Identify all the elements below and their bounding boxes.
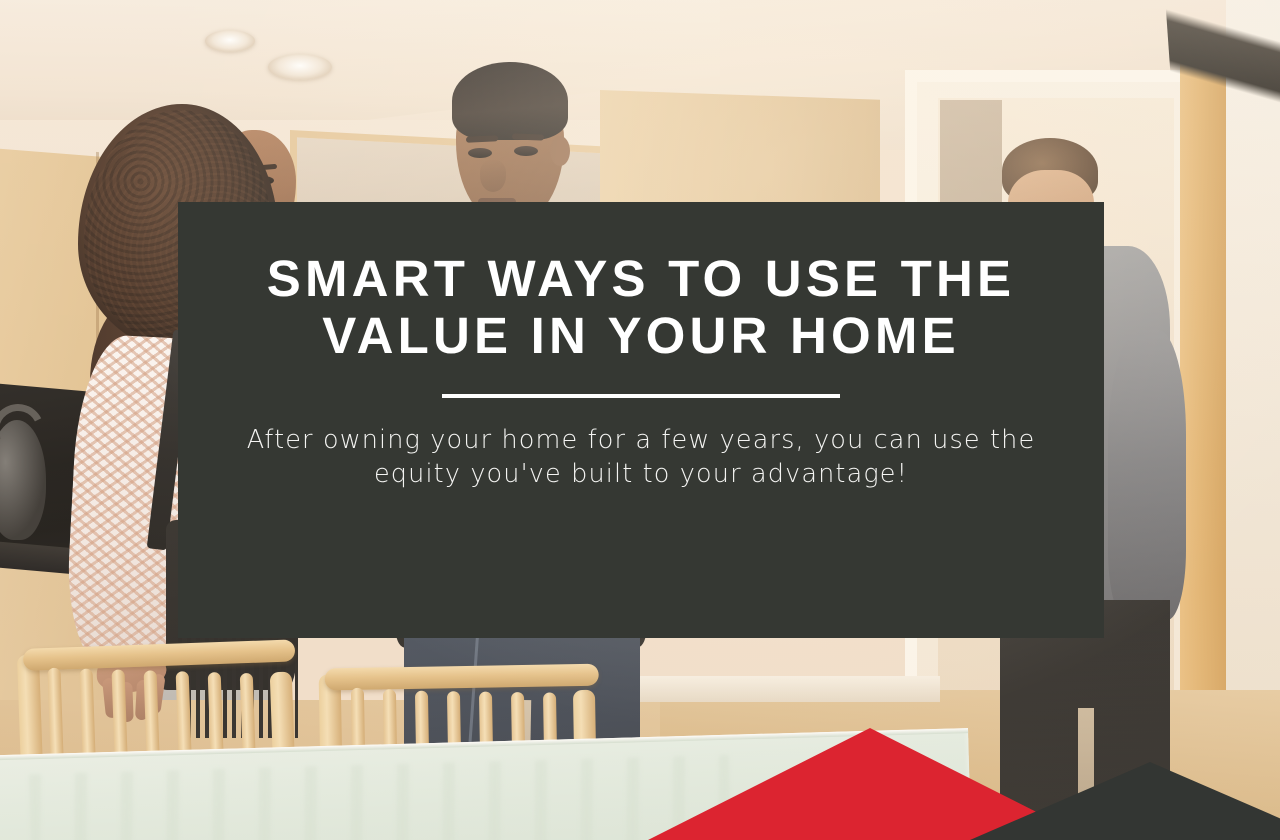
table-reflection [29, 755, 731, 840]
person-right-arm [1108, 330, 1186, 620]
ceiling-downlight [205, 30, 255, 52]
corner-stripe [1162, 0, 1280, 185]
title-divider [442, 394, 840, 398]
text-overlay-panel: Smart Ways To Use The Value In Your Home… [178, 202, 1104, 638]
person-center-eye [468, 148, 492, 158]
baseboard [600, 676, 940, 702]
person-center-eyebrow [512, 133, 544, 140]
page-title: Smart Ways To Use The Value In Your Home [261, 250, 1021, 364]
dark-triangle [970, 762, 1280, 840]
chair-top-rail [325, 664, 599, 691]
person-center-ear [550, 136, 570, 166]
person-center-eye [514, 146, 538, 156]
ceiling-downlight [268, 54, 332, 80]
chair-top-rail [23, 639, 296, 670]
marketing-graphic: Smart Ways To Use The Value In Your Home… [0, 0, 1280, 840]
subtitle-text: After owning your home for a few years, … [222, 424, 1060, 492]
person-center-hair [452, 62, 568, 140]
person-center-nose [480, 160, 506, 192]
